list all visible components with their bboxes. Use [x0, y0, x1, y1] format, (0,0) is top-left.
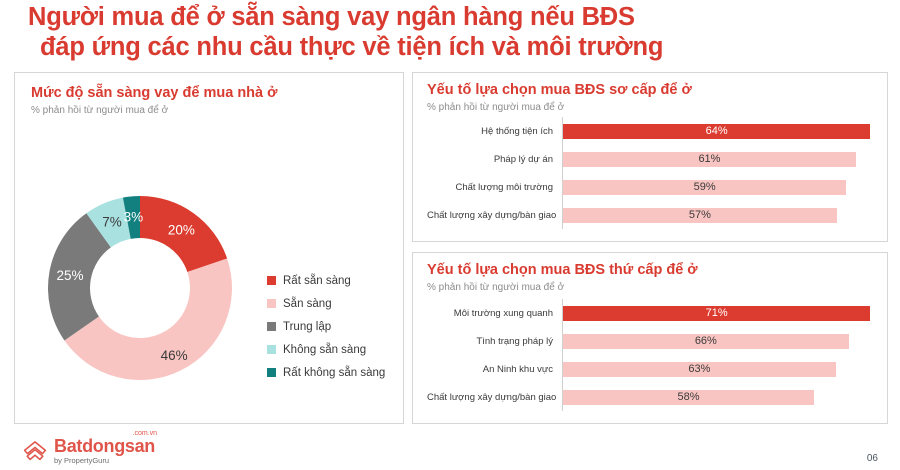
- legend-item[interactable]: Rất sẵn sàng: [267, 269, 385, 292]
- bar-value-label: 64%: [706, 126, 728, 137]
- bar-category-label: Chất lượng xây dựng/bàn giao: [427, 210, 562, 221]
- bar-fill: 58%: [563, 390, 814, 405]
- batdongsan-house-icon: [22, 438, 48, 464]
- legend-item[interactable]: Không sẵn sàng: [267, 338, 385, 361]
- bar-fill: 57%: [563, 208, 837, 223]
- panel-primary-factors-header: Yếu tố lựa chọn mua BĐS sơ cấp để ở % ph…: [413, 73, 887, 114]
- bar-row: An Ninh khu vực63%: [427, 355, 875, 383]
- legend-item[interactable]: Trung lập: [267, 315, 385, 338]
- panel-secondary-factors-title: Yếu tố lựa chọn mua BĐS thứ cấp để ở: [427, 262, 887, 279]
- legend-item-label: Rất sẵn sàng: [283, 275, 351, 287]
- bar-track: 66%: [562, 327, 875, 355]
- bar-fill: 63%: [563, 362, 836, 377]
- legend-item-label: Rất không sẵn sàng: [283, 367, 385, 379]
- page-title-line-1: Người mua để ở sẵn sàng vay ngân hàng nế…: [28, 2, 878, 32]
- bar-chart-primary: Hệ thống tiện ích64%Pháp lý dự án61%Chất…: [427, 117, 875, 229]
- bar-track: 61%: [562, 145, 875, 173]
- bar-track: 57%: [562, 201, 875, 229]
- donut-slice-value: 46%: [161, 348, 188, 363]
- bar-row: Chất lượng môi trường59%: [427, 173, 875, 201]
- bar-track: 64%: [562, 117, 875, 145]
- panel-secondary-factors-subtitle: % phản hồi từ người mua để ở: [427, 281, 887, 294]
- bar-fill: 64%: [563, 124, 870, 139]
- donut-legend: Rất sẵn sàngSẵn sàngTrung lậpKhông sẵn s…: [267, 269, 385, 384]
- batdongsan-wordmark: Batdongsan .com.vn by PropertyGuru: [54, 437, 155, 465]
- bar-value-label: 58%: [678, 392, 700, 403]
- bar-category-label: Môi trường xung quanh: [427, 308, 562, 319]
- donut-chart-svg: 20%46%25%7%3%: [25, 173, 255, 403]
- donut-slice-value: 25%: [57, 268, 84, 283]
- footer-logo: Batdongsan .com.vn by PropertyGuru: [22, 437, 155, 465]
- bar-category-label: Chất lượng xây dựng/bàn giao: [427, 392, 562, 403]
- legend-swatch-icon: [267, 276, 276, 285]
- panel-primary-factors: Yếu tố lựa chọn mua BĐS sơ cấp để ở % ph…: [412, 72, 888, 242]
- bar-category-label: Pháp lý dự án: [427, 154, 562, 165]
- donut-slice-value: 7%: [102, 215, 122, 230]
- bar-category-label: Chất lượng môi trường: [427, 182, 562, 193]
- legend-item-label: Trung lập: [283, 321, 331, 333]
- bar-chart-secondary: Môi trường xung quanh71%Tình trạng pháp …: [427, 299, 875, 411]
- legend-item-label: Không sẵn sàng: [283, 344, 366, 356]
- panel-readiness-header: Mức độ sẵn sàng vay để mua nhà ở % phản …: [15, 73, 403, 117]
- bar-fill: 59%: [563, 180, 846, 195]
- bar-fill: 61%: [563, 152, 856, 167]
- bar-category-label: An Ninh khu vực: [427, 364, 562, 375]
- bar-track: 58%: [562, 383, 875, 411]
- panel-readiness-title: Mức độ sẵn sàng vay để mua nhà ở: [31, 85, 403, 102]
- legend-item[interactable]: Rất không sẵn sàng: [267, 361, 385, 384]
- panel-primary-factors-title: Yếu tố lựa chọn mua BĐS sơ cấp để ở: [427, 82, 887, 99]
- panel-primary-factors-subtitle: % phản hồi từ người mua để ở: [427, 101, 887, 114]
- bar-value-label: 59%: [694, 182, 716, 193]
- bar-row: Chất lượng xây dựng/bàn giao57%: [427, 201, 875, 229]
- logo-byline: by PropertyGuru: [54, 456, 155, 465]
- bar-row: Tình trạng pháp lý66%: [427, 327, 875, 355]
- page-number: 06: [867, 453, 878, 464]
- panel-readiness-subtitle: % phản hồi từ người mua để ở: [31, 104, 403, 117]
- bar-row: Chất lượng xây dựng/bàn giao58%: [427, 383, 875, 411]
- legend-swatch-icon: [267, 345, 276, 354]
- bar-track: 71%: [562, 299, 875, 327]
- bar-row: Hệ thống tiện ích64%: [427, 117, 875, 145]
- bar-value-label: 71%: [706, 308, 728, 319]
- panel-secondary-factors: Yếu tố lựa chọn mua BĐS thứ cấp để ở % p…: [412, 252, 888, 424]
- bar-fill: 71%: [563, 306, 870, 321]
- legend-item-label: Sẵn sàng: [283, 298, 332, 310]
- legend-swatch-icon: [267, 322, 276, 331]
- page-title-line-2: đáp ứng các nhu cầu thực về tiện ích và …: [28, 32, 878, 62]
- panel-secondary-factors-header: Yếu tố lựa chọn mua BĐS thứ cấp để ở % p…: [413, 253, 887, 294]
- bar-value-label: 66%: [695, 336, 717, 347]
- donut-slice-value: 20%: [168, 222, 195, 237]
- bar-track: 59%: [562, 173, 875, 201]
- bar-fill: 66%: [563, 334, 849, 349]
- logo-name: Batdongsan: [54, 437, 155, 455]
- legend-swatch-icon: [267, 299, 276, 308]
- donut-chart: 20%46%25%7%3%: [25, 173, 255, 403]
- bar-category-label: Hệ thống tiện ích: [427, 126, 562, 137]
- page-title: Người mua để ở sẵn sàng vay ngân hàng nế…: [28, 2, 878, 62]
- logo-tld: .com.vn: [133, 430, 158, 437]
- legend-item[interactable]: Sẵn sàng: [267, 292, 385, 315]
- bar-row: Môi trường xung quanh71%: [427, 299, 875, 327]
- bar-value-label: 63%: [688, 364, 710, 375]
- bar-row: Pháp lý dự án61%: [427, 145, 875, 173]
- legend-swatch-icon: [267, 368, 276, 377]
- bar-track: 63%: [562, 355, 875, 383]
- donut-slice-value: 3%: [124, 209, 144, 224]
- bar-value-label: 61%: [698, 154, 720, 165]
- bar-value-label: 57%: [689, 210, 711, 221]
- panel-readiness: Mức độ sẵn sàng vay để mua nhà ở % phản …: [14, 72, 404, 424]
- bar-category-label: Tình trạng pháp lý: [427, 336, 562, 347]
